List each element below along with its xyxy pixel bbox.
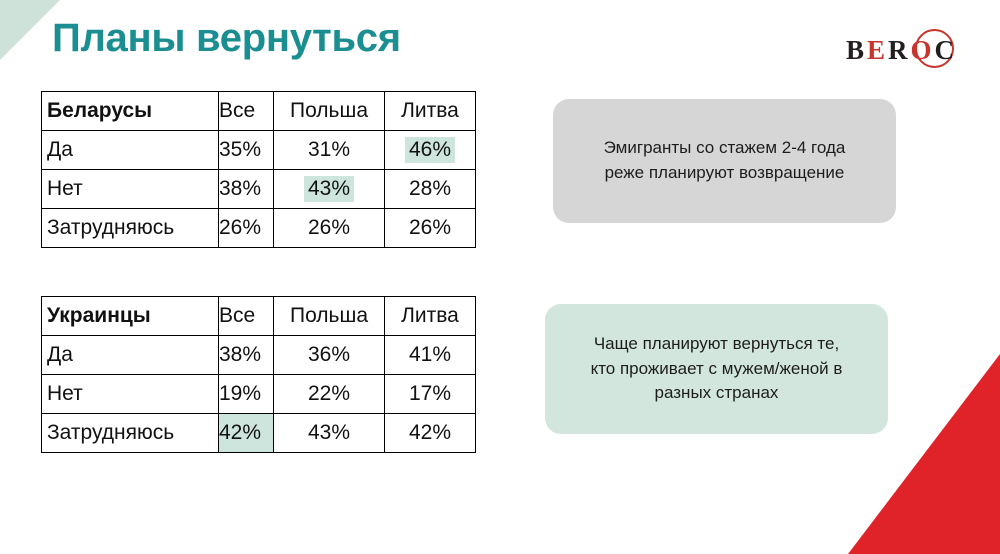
logo-letter-b: B xyxy=(846,35,867,65)
cell-yes-lithuania: 41% xyxy=(385,336,476,375)
row-label-yes: Да xyxy=(42,131,219,170)
callout-line: Чаще планируют вернуться те, xyxy=(591,332,843,357)
logo-letter-c: C xyxy=(935,35,958,65)
cell-no-lithuania: 28% xyxy=(385,170,476,209)
column-header-poland: Польша xyxy=(274,297,385,336)
highlighted-value: 43% xyxy=(304,176,354,202)
cell-unsure-poland: 43% xyxy=(274,414,385,453)
table-header-row: Украинцы Все Польша Литва xyxy=(42,297,476,336)
beroc-logo: BEROC xyxy=(846,28,972,70)
cell-yes-poland: 31% xyxy=(274,131,385,170)
table-header-row: Беларусы Все Польша Литва xyxy=(42,92,476,131)
column-header-poland: Польша xyxy=(274,92,385,131)
table-row: Нет 19% 22% 17% xyxy=(42,375,476,414)
column-header-lithuania: Литва xyxy=(385,92,476,131)
logo-wordmark: BEROC xyxy=(846,37,957,64)
table-row: Да 35% 31% 46% xyxy=(42,131,476,170)
cell-no-poland: 43% xyxy=(274,170,385,209)
table-row: Нет 38% 43% 28% xyxy=(42,170,476,209)
cell-yes-all: 38% xyxy=(219,336,274,375)
cell-no-lithuania: 17% xyxy=(385,375,476,414)
row-label-no: Нет xyxy=(42,375,219,414)
column-header-all: Все xyxy=(219,92,274,131)
cell-unsure-all: 26% xyxy=(219,209,274,248)
corner-decoration-mint xyxy=(0,0,60,60)
table-ukrainians: Украинцы Все Польша Литва Да 38% 36% 41%… xyxy=(41,296,476,453)
callout-line: реже планируют возвращение xyxy=(604,161,846,186)
table-title-belarusians: Беларусы xyxy=(42,92,219,131)
callout-spouse-text: Чаще планируют вернуться те, кто прожива… xyxy=(591,332,843,406)
cell-unsure-lithuania: 26% xyxy=(385,209,476,248)
table-row: Да 38% 36% 41% xyxy=(42,336,476,375)
cell-yes-poland: 36% xyxy=(274,336,385,375)
row-label-no: Нет xyxy=(42,170,219,209)
cell-no-all: 38% xyxy=(219,170,274,209)
row-label-unsure: Затрудняюсь xyxy=(42,414,219,453)
callout-tenure-text: Эмигранты со стажем 2-4 года реже планир… xyxy=(604,136,846,185)
row-label-unsure: Затрудняюсь xyxy=(42,209,219,248)
table-row: Затрудняюсь 26% 26% 26% xyxy=(42,209,476,248)
logo-letter-o: O xyxy=(911,35,935,65)
cell-unsure-all: 42% xyxy=(219,414,274,453)
cell-yes-all: 35% xyxy=(219,131,274,170)
logo-letter-r: R xyxy=(888,35,911,65)
highlighted-value: 46% xyxy=(405,137,455,163)
logo-letter-e: E xyxy=(867,35,888,65)
callout-spouse: Чаще планируют вернуться те, кто прожива… xyxy=(545,304,888,434)
table-title-ukrainians: Украинцы xyxy=(42,297,219,336)
callout-line: кто проживает с мужем/женой в xyxy=(591,357,843,382)
callout-tenure: Эмигранты со стажем 2-4 года реже планир… xyxy=(553,99,896,223)
column-header-lithuania: Литва xyxy=(385,297,476,336)
column-header-all: Все xyxy=(219,297,274,336)
cell-no-all: 19% xyxy=(219,375,274,414)
page-title: Планы вернуться xyxy=(52,16,401,61)
cell-unsure-poland: 26% xyxy=(274,209,385,248)
cell-unsure-lithuania: 42% xyxy=(385,414,476,453)
table-row: Затрудняюсь 42% 43% 42% xyxy=(42,414,476,453)
row-label-yes: Да xyxy=(42,336,219,375)
cell-yes-lithuania: 46% xyxy=(385,131,476,170)
callout-line: Эмигранты со стажем 2-4 года xyxy=(604,136,846,161)
callout-line: разных странах xyxy=(591,381,843,406)
cell-no-poland: 22% xyxy=(274,375,385,414)
table-belarusians: Беларусы Все Польша Литва Да 35% 31% 46%… xyxy=(41,91,476,248)
